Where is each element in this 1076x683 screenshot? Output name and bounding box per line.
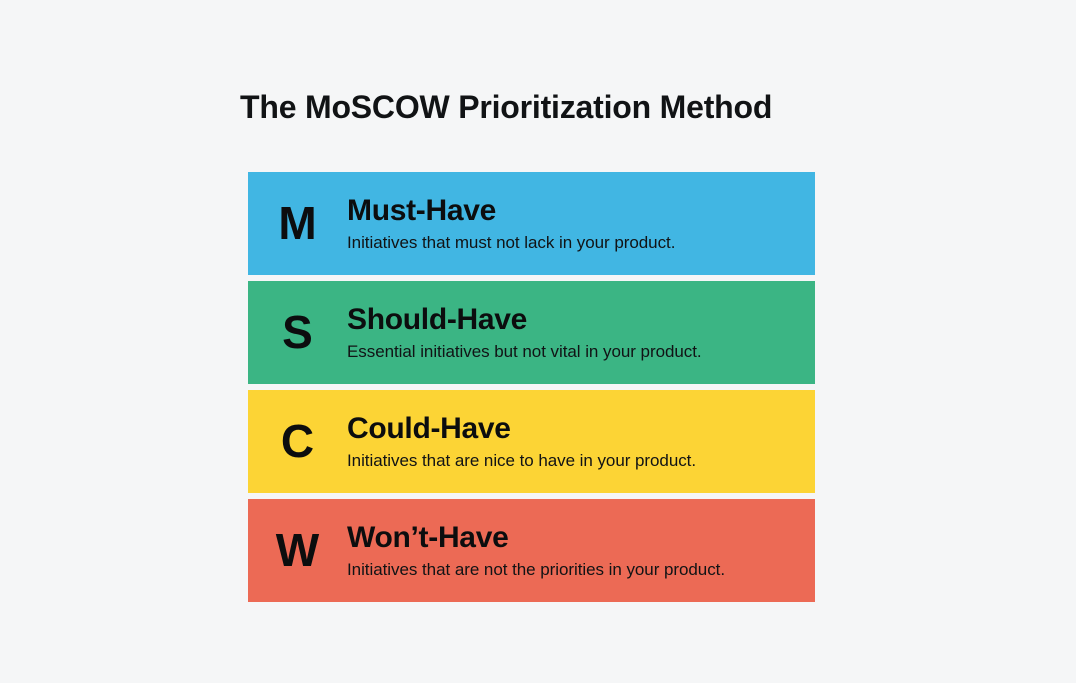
priority-band-wont-have: W Won’t-Have Initiatives that are not th… (248, 499, 815, 602)
band-description: Initiatives that must not lack in your p… (347, 231, 801, 255)
band-description: Essential initiatives but not vital in y… (347, 340, 801, 364)
band-initial-letter: C (248, 390, 347, 493)
priority-band-could-have: C Could-Have Initiatives that are nice t… (248, 390, 815, 493)
moscow-infographic: The MoSCOW Prioritization Method M Must-… (0, 0, 1076, 683)
band-heading: Won’t-Have (347, 520, 801, 556)
band-text-group: Could-Have Initiatives that are nice to … (347, 411, 815, 473)
priority-band-list: M Must-Have Initiatives that must not la… (248, 172, 815, 602)
band-heading: Should-Have (347, 302, 801, 338)
band-heading: Could-Have (347, 411, 801, 447)
band-description: Initiatives that are nice to have in you… (347, 449, 801, 473)
band-text-group: Won’t-Have Initiatives that are not the … (347, 520, 815, 582)
band-text-group: Must-Have Initiatives that must not lack… (347, 193, 815, 255)
band-heading: Must-Have (347, 193, 801, 229)
band-initial-letter: W (248, 499, 347, 602)
band-description: Initiatives that are not the priorities … (347, 558, 801, 582)
band-text-group: Should-Have Essential initiatives but no… (347, 302, 815, 364)
priority-band-should-have: S Should-Have Essential initiatives but … (248, 281, 815, 384)
page-title: The MoSCOW Prioritization Method (240, 87, 840, 127)
band-initial-letter: S (248, 281, 347, 384)
band-initial-letter: M (248, 172, 347, 275)
priority-band-must-have: M Must-Have Initiatives that must not la… (248, 172, 815, 275)
